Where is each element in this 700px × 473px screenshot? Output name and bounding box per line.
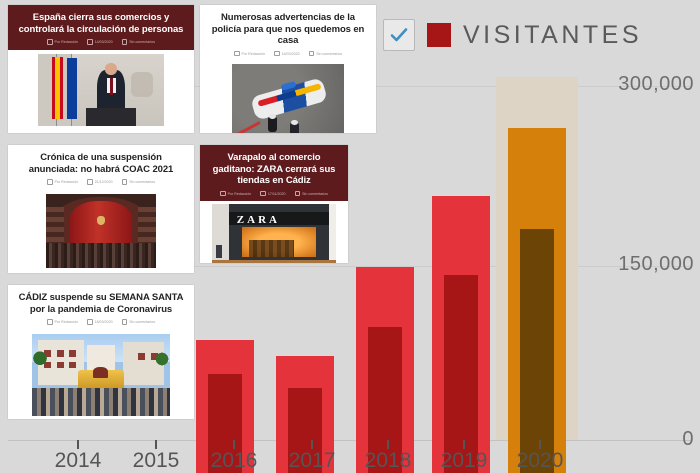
user-icon: [47, 179, 53, 185]
card-header: Crónica de una suspensión anunciada: no …: [8, 145, 194, 190]
x-axis-label-2015: 2015: [121, 450, 191, 471]
comment-icon: [295, 191, 301, 197]
news-card-zara-cadiz[interactable]: Varapalo al comercio gaditano: ZARA cerr…: [200, 145, 348, 263]
meta-comments: Sin comentarios: [122, 319, 155, 325]
calendar-icon: [260, 191, 266, 197]
meta-date: 14/03/2020: [87, 39, 113, 45]
news-card-semana-santa[interactable]: CÁDIZ suspende su SEMANA SANTA por la pa…: [8, 285, 194, 419]
meta-author: Por Redacción: [47, 39, 78, 45]
meta-author: Por Redacción: [220, 191, 251, 197]
x-axis-label-2019: 2019: [429, 450, 499, 471]
y-tick-label-300000: 300,000: [618, 74, 694, 94]
y-tick-label-0: 0: [682, 429, 694, 449]
card-header: España cierra sus comercios y controlará…: [8, 5, 194, 50]
card-title: España cierra sus comercios y controlará…: [16, 12, 186, 35]
meta-date: 18/03/2020: [87, 319, 113, 325]
news-card-espana-cierra[interactable]: España cierra sus comercios y controlará…: [8, 5, 194, 133]
bar-group-2020[interactable]: [508, 33, 566, 473]
meta-date: 16/03/2020: [274, 51, 300, 57]
news-card-coac-2021[interactable]: Crónica de una suspensión anunciada: no …: [8, 145, 194, 273]
comment-icon: [122, 39, 128, 45]
calendar-icon: [87, 319, 93, 325]
legend-color-swatch: [427, 23, 451, 47]
x-axis-label-2020: 2020: [505, 450, 575, 471]
meta-comments: Sin comentarios: [295, 191, 328, 197]
user-icon: [220, 191, 226, 197]
police-car-photo: [232, 64, 344, 133]
meta-date: 21/12/2020: [87, 179, 113, 185]
calendar-icon: [87, 179, 93, 185]
card-title: Crónica de una suspensión anunciada: no …: [16, 152, 186, 175]
meta-author: Por Redacción: [234, 51, 265, 57]
x-tick-2017: [311, 440, 313, 449]
x-axis-label-2017: 2017: [277, 450, 347, 471]
bar-inner-2019: [444, 275, 478, 473]
x-tick-2020: [539, 440, 541, 449]
x-tick-2018: [387, 440, 389, 449]
user-icon: [47, 39, 53, 45]
x-axis-label-2014: 2014: [43, 450, 113, 471]
bar-inner-2020: [520, 229, 554, 473]
user-icon: [234, 51, 240, 57]
card-meta: Por Redacción 16/03/2020 Sin comentarios: [208, 51, 368, 57]
x-tick-2014: [77, 440, 79, 449]
x-tick-2015: [155, 440, 157, 449]
comment-icon: [122, 319, 128, 325]
card-title: CÁDIZ suspende su SEMANA SANTA por la pa…: [16, 292, 186, 315]
calendar-icon: [87, 39, 93, 45]
theatre-photo: [46, 194, 156, 268]
card-meta: Por Redacción 18/03/2020 Sin comentarios: [16, 319, 186, 325]
press-conference-photo: [38, 54, 164, 126]
user-icon: [47, 319, 53, 325]
news-card-advertencias-policia[interactable]: Numerosas advertencias de la policía par…: [200, 5, 376, 133]
card-header: Varapalo al comercio gaditano: ZARA cerr…: [200, 145, 348, 201]
comment-icon: [309, 51, 315, 57]
procession-photo: [32, 334, 170, 416]
x-axis-line: [8, 440, 692, 441]
card-meta: Por Redacción 17/11/2020 Sin comentarios: [208, 191, 340, 197]
checkmark-icon: [389, 25, 409, 45]
card-header: CÁDIZ suspende su SEMANA SANTA por la pa…: [8, 285, 194, 330]
card-title: Numerosas advertencias de la policía par…: [208, 12, 368, 47]
x-axis-label-2018: 2018: [353, 450, 423, 471]
x-axis-label-2016: 2016: [199, 450, 269, 471]
card-meta: Por Redacción 14/03/2020 Sin comentarios: [16, 39, 186, 45]
bar-group-2019[interactable]: [432, 33, 490, 473]
meta-comments: Sin comentarios: [122, 39, 155, 45]
card-header: Numerosas advertencias de la policía par…: [200, 5, 376, 61]
zara-storefront-photo: ZARA: [212, 204, 336, 263]
x-tick-2016: [233, 440, 235, 449]
legend-series-label: VISITANTES: [463, 23, 642, 48]
meta-comments: Sin comentarios: [122, 179, 155, 185]
comment-icon: [122, 179, 128, 185]
card-meta: Por Redacción 21/12/2020 Sin comentarios: [16, 179, 186, 185]
chart-legend[interactable]: VISITANTES: [383, 19, 642, 51]
screenshot-stage: 300,000 150,000 0: [0, 0, 700, 473]
meta-author: Por Redacción: [47, 319, 78, 325]
meta-author: Por Redacción: [47, 179, 78, 185]
meta-date: 17/11/2020: [260, 191, 285, 197]
y-tick-label-150000: 150,000: [618, 254, 694, 274]
card-title: Varapalo al comercio gaditano: ZARA cerr…: [208, 152, 340, 187]
calendar-icon: [274, 51, 280, 57]
x-tick-2019: [463, 440, 465, 449]
legend-checkbox[interactable]: [383, 19, 415, 51]
meta-comments: Sin comentarios: [309, 51, 342, 57]
